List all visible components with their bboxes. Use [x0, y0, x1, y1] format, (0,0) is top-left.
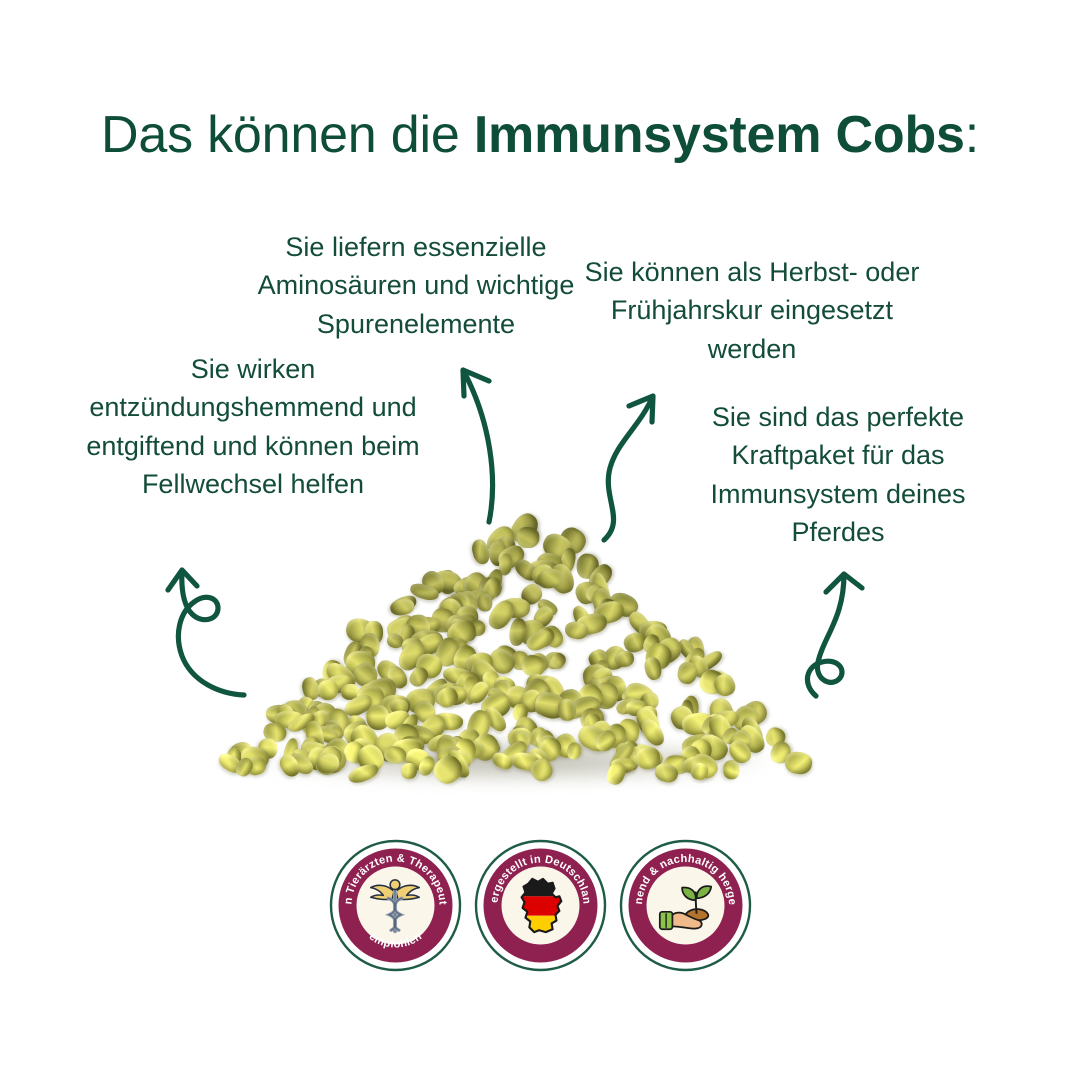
headline-product-name: Immunsystem Cobs — [474, 106, 965, 164]
germany-map-icon — [509, 875, 571, 937]
product-image-cobs-pile — [232, 520, 808, 820]
caduceus-icon — [364, 875, 426, 937]
cob-pellet — [784, 750, 814, 775]
arrow-curve-up-left-icon — [438, 350, 528, 525]
arrow-curl-right-icon — [800, 558, 910, 698]
feature-caption-amino: Sie liefern essenzielle Aminosäuren und … — [222, 228, 610, 343]
cob-pellet — [477, 593, 492, 611]
trust-badge-row: Von Tierärzten & Therapeuten empfohlen — [0, 838, 1080, 973]
headline-suffix: : — [965, 106, 979, 164]
feature-caption-wirken: Sie wirken entzündungshemmend und entgif… — [78, 350, 428, 503]
feature-caption-kur: Sie können als Herbst- oder Frühjahrskur… — [582, 253, 922, 368]
cob-pellet — [516, 526, 539, 548]
cob-pellet — [389, 597, 416, 617]
headline-prefix: Das können die — [101, 106, 474, 164]
promo-graphic: Das können die Immunsystem Cobs: Sie lie… — [0, 0, 1080, 1080]
page-title: Das können die Immunsystem Cobs: — [0, 106, 1080, 166]
cob-pellet — [614, 650, 635, 669]
badge-vet-recommended[interactable]: Von Tierärzten & Therapeuten empfohlen — [328, 838, 463, 973]
hand-with-sprout-icon — [654, 875, 716, 937]
cob-pellet — [317, 679, 339, 701]
cob-pellet — [723, 760, 739, 780]
arrow-s-curve-up-right-icon — [596, 378, 686, 543]
badge-sustainable[interactable]: Schonend & nachhaltig hergestellt — [618, 838, 753, 973]
badge-made-in-germany[interactable]: Hergestellt in Deutschland — [473, 838, 608, 973]
